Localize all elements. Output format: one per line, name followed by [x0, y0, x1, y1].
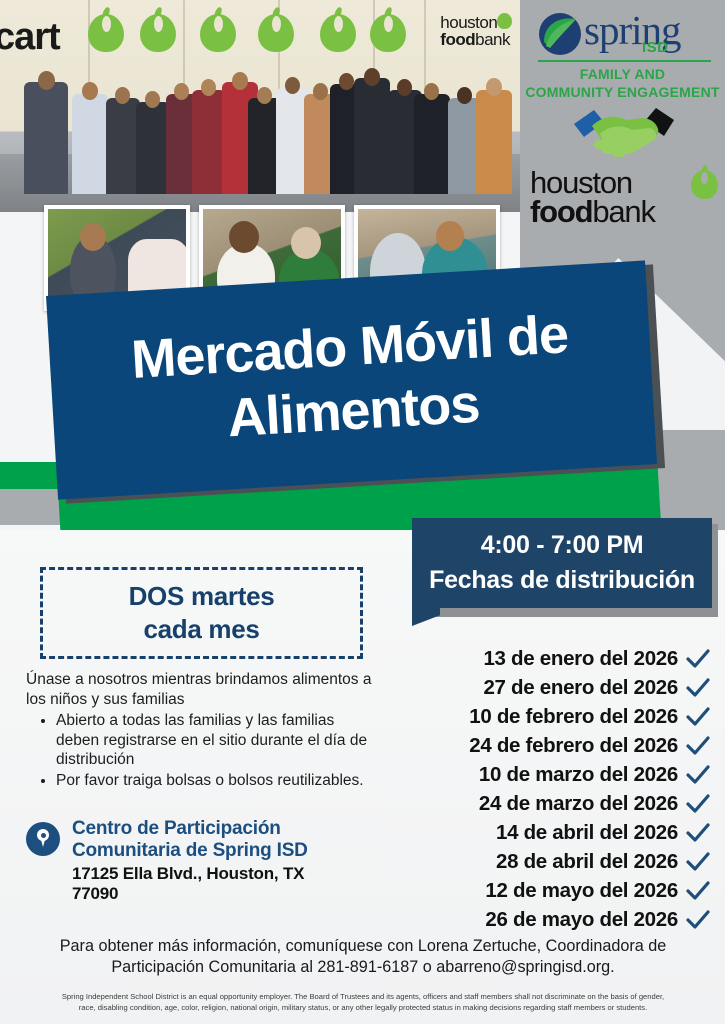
contact-line1: Para obtener más información, comuníques…	[18, 936, 708, 957]
logo-panel: spring ISD FAMILY AND COMMUNITY ENGAGEME…	[520, 0, 725, 262]
apple-icon	[140, 14, 176, 52]
handshake-icon	[572, 104, 676, 162]
location-block: Centro de Participación Comunitaria de S…	[26, 818, 386, 904]
check-icon	[686, 823, 710, 843]
list-item: Por favor traiga bolsas o bolsos reutili…	[56, 771, 376, 791]
dates-heading: Fechas de distribución	[429, 566, 695, 595]
isd-wordmark: ISD	[642, 39, 669, 56]
list-item: 13 de enero del 2026	[400, 644, 710, 673]
distribution-dates-list: 13 de enero del 2026 27 de enero del 202…	[400, 644, 710, 934]
apple-icon	[691, 170, 718, 199]
flyer-root: cart houston foodbank	[0, 0, 725, 1024]
check-icon	[686, 707, 710, 727]
list-item: 14 de abril del 2026	[400, 818, 710, 847]
frequency-line2: cada mes	[143, 614, 259, 645]
truck-word-cart: cart	[0, 16, 60, 59]
date-label: 12 de mayo del 2026	[485, 879, 678, 903]
disclaimer-line2: race, disabling condition, age, color, r…	[28, 1002, 698, 1013]
date-label: 24 de marzo del 2026	[479, 792, 678, 816]
apple-icon	[258, 14, 294, 52]
spring-leaf-icon	[538, 12, 582, 56]
list-item: 10 de marzo del 2026	[400, 760, 710, 789]
list-item: 24 de marzo del 2026	[400, 789, 710, 818]
apple-icon	[88, 14, 124, 52]
date-label: 26 de mayo del 2026	[485, 908, 678, 932]
apple-icon	[497, 13, 512, 29]
group-photo: cart houston foodbank	[0, 0, 520, 212]
frequency-box: DOS martes cada mes	[40, 567, 363, 659]
time-box: 4:00 - 7:00 PM Fechas de distribución	[412, 518, 712, 608]
frequency-line1: DOS martes	[129, 581, 275, 612]
description-intro: Únase a nosotros mientras brindamos alim…	[26, 670, 376, 709]
street-address: 17125 Ella Blvd., Houston, TX 77090	[72, 864, 386, 904]
truck-foodbank-logo: houston foodbank	[440, 14, 510, 48]
date-label: 28 de abril del 2026	[496, 850, 678, 874]
date-label: 14 de abril del 2026	[496, 821, 678, 845]
department-name: FAMILY AND COMMUNITY ENGAGEMENT	[520, 66, 725, 101]
list-item: 26 de mayo del 2026	[400, 905, 710, 934]
houston-foodbank-logo: houston foodbank	[530, 168, 720, 227]
check-icon	[686, 881, 710, 901]
list-item: 28 de abril del 2026	[400, 847, 710, 876]
check-icon	[686, 852, 710, 872]
photo-people-group	[0, 64, 520, 194]
list-item: 12 de mayo del 2026	[400, 876, 710, 905]
contact-info: Para obtener más información, comuníques…	[18, 936, 708, 978]
description-text: Únase a nosotros mientras brindamos alim…	[26, 670, 376, 790]
spring-isd-logo: spring ISD	[538, 8, 713, 60]
contact-line2: Participación Comunitaria al 281-891-618…	[18, 957, 708, 978]
title-banner: Mercado Móvil de Alimentos	[46, 260, 657, 499]
apple-icon	[320, 14, 356, 52]
divider	[538, 60, 711, 62]
list-item: Abierto a todas las familias y las famil…	[56, 711, 376, 770]
check-icon	[686, 678, 710, 698]
check-icon	[686, 736, 710, 756]
apple-icon	[370, 14, 406, 52]
check-icon	[686, 794, 710, 814]
list-item: 27 de enero del 2026	[400, 673, 710, 702]
page-title-line2: Alimentos	[226, 373, 481, 452]
apple-icon	[200, 14, 236, 52]
date-label: 27 de enero del 2026	[483, 676, 678, 700]
check-icon	[686, 649, 710, 669]
location-pin-icon	[26, 822, 60, 856]
disclaimer-line1: Spring Independent School District is an…	[28, 991, 698, 1002]
date-label: 10 de marzo del 2026	[479, 763, 678, 787]
date-label: 13 de enero del 2026	[483, 647, 678, 671]
list-item: 24 de febrero del 2026	[400, 731, 710, 760]
legal-disclaimer: Spring Independent School District is an…	[28, 991, 698, 1014]
distribution-time: 4:00 - 7:00 PM	[481, 531, 644, 560]
check-icon	[686, 910, 710, 930]
list-item: 10 de febrero del 2026	[400, 702, 710, 731]
description-bullets: Abierto a todas las familias y las famil…	[56, 711, 376, 790]
date-label: 10 de febrero del 2026	[469, 705, 678, 729]
check-icon	[686, 765, 710, 785]
venue-name: Centro de Participación Comunitaria de S…	[72, 818, 386, 862]
date-label: 24 de febrero del 2026	[469, 734, 678, 758]
